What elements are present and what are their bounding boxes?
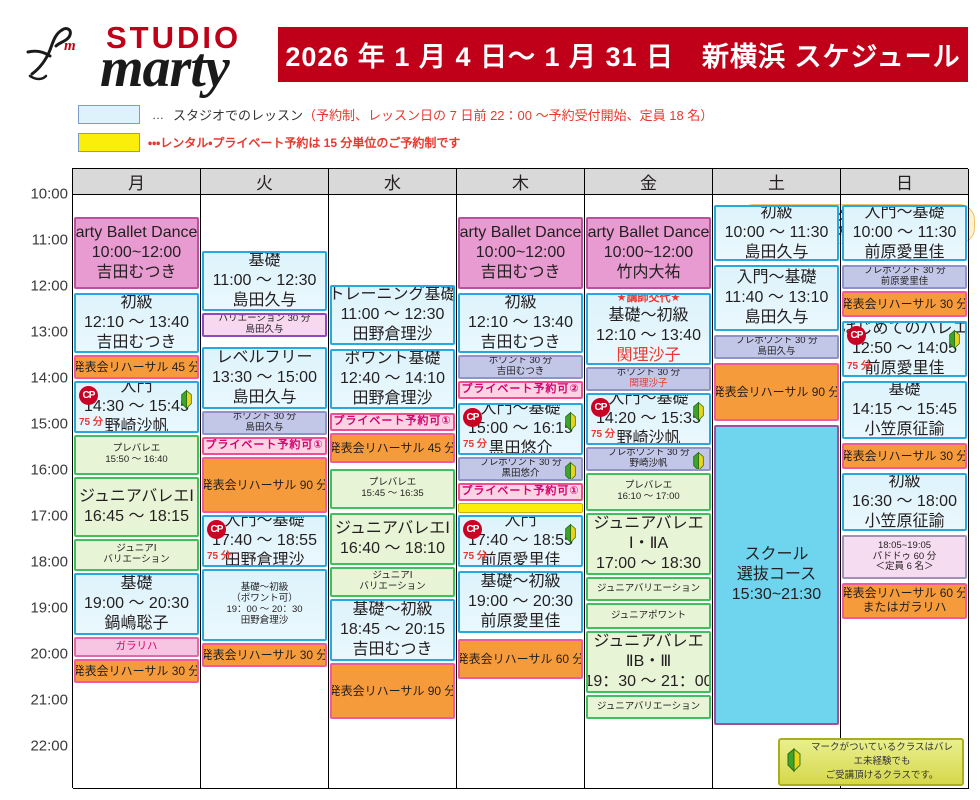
- legend-swatch-rental: [78, 133, 140, 152]
- event-line: プライベート予約可①: [205, 439, 323, 453]
- cp-badge-icon: CP: [207, 520, 226, 539]
- legend-row-studio: … スタジオでのレッスン（予約制、レッスン日の 7 日前 22：00 〜予約受付…: [78, 105, 713, 124]
- class-event[interactable]: ポワント 30 分吉田むつき: [458, 355, 583, 379]
- class-event[interactable]: 発表会リハーサル 60 分またはガラリハ: [842, 583, 967, 619]
- legend-swatch-studio: [78, 105, 140, 124]
- event-line: 15:30~21:30: [732, 585, 821, 605]
- event-line: 黒田悠介: [501, 469, 539, 480]
- leaf-icon: [948, 329, 961, 350]
- event-line: Marty Ballet Dancers: [74, 223, 199, 243]
- day-column-木: 木Marty Ballet Dancers10:00~12:00吉田むつき初級1…: [457, 169, 585, 789]
- day-body-金: Marty Ballet Dancers10:00~12:00竹内大祐★講師交代…: [585, 195, 712, 789]
- time-label-1300: 13:00: [30, 324, 68, 341]
- day-body-月: Marty Ballet Dancers10:00~12:00吉田むつき初級12…: [73, 195, 200, 789]
- time-label-1100: 11:00: [32, 232, 68, 249]
- event-line: 10:00~12:00: [476, 243, 565, 263]
- event-line: 吉田むつき: [352, 640, 432, 660]
- event-line: 13:30 〜 15:00: [212, 368, 317, 388]
- event-line: 入門〜基礎: [224, 515, 304, 531]
- event-line: 前原愛里佳: [864, 243, 944, 261]
- logo-marty-text: marty: [100, 36, 229, 100]
- legend-area: … スタジオでのレッスン（予約制、レッスン日の 7 日前 22：00 〜予約受付…: [0, 100, 980, 162]
- class-event[interactable]: 基礎19:00 〜 20:30鍋嶋聡子: [74, 573, 199, 635]
- event-line: 入門: [120, 381, 152, 397]
- leaf-icon: [564, 523, 577, 544]
- page-title: 2026 年 1 月 4 日〜 1 月 31 日 新横浜 スケジュール: [285, 35, 960, 74]
- leaf-icon: [564, 411, 577, 432]
- class-event[interactable]: ポワント基礎12:40 〜 14:10田野倉理沙: [330, 349, 455, 409]
- cp-badge-icon: CP: [79, 386, 98, 405]
- event-line: 島田久与: [245, 423, 283, 434]
- class-event[interactable]: 発表会リハーサル 45 分: [74, 355, 199, 379]
- class-event[interactable]: 基礎〜初級18:45 〜 20:15吉田むつき: [330, 599, 455, 661]
- class-event[interactable]: 入門〜基礎11:40 〜 13:10島田久与: [714, 265, 839, 331]
- class-event[interactable]: プライベート予約可①: [458, 483, 583, 501]
- class-event[interactable]: スクール選抜コース15:30~21:30: [714, 425, 839, 725]
- event-line: 11:40 〜 13:10: [725, 288, 829, 308]
- legend-text-studio: スタジオでのレッスン（予約制、レッスン日の 7 日前 22：00 〜予約受付開始…: [173, 105, 713, 124]
- day-header-金: 金: [585, 169, 712, 195]
- time-label-1400: 14:00: [30, 370, 68, 387]
- event-line: 吉田むつき: [480, 263, 560, 283]
- class-event[interactable]: トレーニング基礎11:00 〜 12:30田野倉理沙: [330, 285, 455, 345]
- event-line: 15:45 〜 16:35: [361, 489, 423, 500]
- event-line: 黒田悠介: [488, 439, 552, 455]
- event-line: ⅡB・Ⅲ: [626, 652, 672, 672]
- legend-studio-plain: スタジオでのレッスン: [173, 108, 303, 123]
- event-line: 前原愛里佳: [480, 612, 560, 632]
- duration-badge: 75 分: [463, 435, 487, 450]
- day-body-日: 入門〜基礎10:00 〜 11:30前原愛里佳プレポワント 30 分前原愛里佳発…: [841, 195, 968, 789]
- event-line: 発表会リハーサル 30 分: [842, 297, 967, 312]
- event-line: 12:10 〜 13:40: [468, 313, 573, 333]
- event-line: 16:30 〜 18:00: [852, 492, 957, 512]
- event-line: 基礎〜初級: [480, 572, 560, 592]
- class-event[interactable]: Marty Ballet Dancers10:00~12:00竹内大祐: [586, 217, 711, 289]
- event-line: 10:00~12:00: [92, 243, 181, 263]
- class-event[interactable]: ジュニアバレエⅠ・ⅡA17:00 〜 18:30: [586, 513, 711, 575]
- event-line: 発表会リハーサル 30 分: [74, 664, 199, 679]
- class-event[interactable]: プレバレエ15:45 〜 16:35: [330, 469, 455, 509]
- class-event[interactable]: 初級12:10 〜 13:40吉田むつき: [458, 293, 583, 353]
- class-event[interactable]: ポワント 30 分関理沙子: [586, 367, 711, 391]
- event-line: 関理沙子: [616, 346, 680, 365]
- time-label-1900: 19:00: [30, 600, 68, 617]
- day-body-火: 基礎11:00 〜 12:30島田久与バリエーション 30 分島田久与レベルフリ…: [201, 195, 328, 789]
- duration-badge: 75 分: [79, 413, 103, 428]
- event-line: ジュニアバリエーション: [597, 584, 700, 595]
- class-event[interactable]: 基礎〜初級（ポワント可）19：00 〜 20：30田野倉理沙: [202, 569, 327, 641]
- event-line: プライベート予約可①: [461, 485, 579, 499]
- time-label-2100: 21:00: [30, 692, 68, 709]
- schedule-title-bar: 2026 年 1 月 4 日〜 1 月 31 日 新横浜 スケジュール: [278, 27, 968, 82]
- class-event[interactable]: ジュニアバリエーション: [586, 577, 711, 601]
- event-line: 11:00 〜 12:30: [341, 305, 445, 325]
- class-event[interactable]: ジュニアバリエーション: [586, 695, 711, 719]
- event-line: 16:45 〜 18:15: [84, 507, 189, 527]
- class-event[interactable]: 発表会リハーサル 90 分: [330, 663, 455, 719]
- class-event[interactable]: プレポワント 30 分前原愛里佳: [842, 265, 967, 289]
- class-event[interactable]: CP75 分入門〜基礎14:20 〜 15:35野崎沙帆: [586, 393, 711, 445]
- svg-text:m: m: [64, 38, 76, 54]
- class-event[interactable]: CP75 分入門14:30 〜 15:45野崎沙帆: [74, 381, 199, 433]
- event-line: ＜定員 6 名＞: [875, 562, 933, 573]
- class-event[interactable]: Marty Ballet Dancers10:00~12:00吉田むつき: [74, 217, 199, 289]
- event-line: 発表会リハーサル 30 分: [842, 449, 967, 464]
- leaf-icon: [786, 747, 802, 778]
- beginner-note-text: マークがついているクラスはバレエ未経験でも ご受講頂けるクラスです。: [808, 741, 956, 784]
- class-event[interactable]: ジュニアバレエⅠ16:40 〜 18:10: [330, 513, 455, 565]
- class-event[interactable]: プレバレエ16:10 〜 17:00: [586, 473, 711, 511]
- day-header-日: 日: [841, 169, 968, 195]
- event-line: ジュニアバリエーション: [597, 702, 700, 713]
- class-event[interactable]: 発表会リハーサル 30 分: [842, 443, 967, 469]
- event-line: 入門〜基礎: [864, 205, 944, 223]
- event-line: 入門〜基礎: [608, 393, 688, 409]
- event-line: 前原愛里佳: [881, 277, 929, 288]
- day-header-土: 土: [713, 169, 840, 195]
- page-header: m STUDIO marty 2026 年 1 月 4 日〜 1 月 31 日 …: [0, 0, 980, 98]
- day-column-水: 水トレーニング基礎11:00 〜 12:30田野倉理沙ポワント基礎12:40 〜…: [329, 169, 457, 789]
- event-line: 12:40 〜 14:10: [340, 369, 445, 389]
- leaf-icon: [692, 451, 705, 471]
- event-line: Marty Ballet Dancers: [586, 223, 711, 243]
- event-line: ジュニアバレエⅠ: [79, 487, 194, 507]
- event-line: 前原愛里佳: [480, 551, 560, 567]
- class-event[interactable]: 発表会リハーサル 30 分: [202, 643, 327, 667]
- class-event[interactable]: 18:05~19:05パドドゥ 60 分＜定員 6 名＞: [842, 535, 967, 579]
- time-label-1700: 17:00: [30, 508, 68, 525]
- cp-badge-icon: CP: [847, 326, 866, 345]
- day-header-火: 火: [201, 169, 328, 195]
- class-event[interactable]: 初級10:00 〜 11:30島田久与: [714, 205, 839, 261]
- marty-dancer-mark-icon: m: [22, 22, 88, 84]
- event-line: 発表会リハーサル 90 分: [714, 385, 839, 400]
- event-line: 田野倉理沙: [224, 551, 304, 567]
- event-line: 初級: [120, 293, 152, 313]
- class-event[interactable]: プレポワント 30 分島田久与: [714, 335, 839, 359]
- event-line: 初級: [504, 293, 536, 313]
- time-label-1500: 15:00: [30, 416, 68, 433]
- day-body-土: 初級10:00 〜 11:30島田久与入門〜基礎11:40 〜 13:10島田久…: [713, 195, 840, 789]
- event-line: ジュニアバレエⅠ: [335, 519, 450, 539]
- class-event[interactable]: プライベート予約可①: [330, 413, 455, 431]
- leaf-icon: [180, 389, 193, 410]
- schedule-grid: 10:0011:0012:0013:0014:0015:0016:0017:00…: [12, 168, 968, 788]
- class-event[interactable]: プレポワント 30 分黒田悠介: [458, 457, 583, 481]
- duration-badge: 75 分: [591, 425, 615, 440]
- event-line: 19：30 〜 21：00: [586, 672, 711, 692]
- event-line: 発表会リハーサル 45 分: [74, 360, 199, 375]
- event-line: 基礎: [248, 251, 280, 271]
- day-body-水: トレーニング基礎11:00 〜 12:30田野倉理沙ポワント基礎12:40 〜 …: [329, 195, 456, 789]
- studio-marty-logo: m STUDIO marty: [22, 14, 272, 90]
- event-line: 選抜コース: [737, 565, 816, 585]
- day-column-日: 日入門〜基礎10:00 〜 11:30前原愛里佳プレポワント 30 分前原愛里佳…: [841, 169, 969, 789]
- event-line: 18:45 〜 20:15: [340, 620, 445, 640]
- event-line: 発表会リハーサル 90 分: [330, 684, 455, 699]
- event-line: 島田久与: [744, 243, 808, 261]
- event-line: 島田久与: [232, 388, 296, 408]
- event-line: 10:00 〜 11:30: [725, 223, 829, 243]
- leaf-icon: [564, 461, 577, 481]
- event-line: プライベート予約可①: [333, 415, 451, 429]
- event-line: 19:00 〜 20:30: [468, 592, 573, 612]
- class-event[interactable]: 入門〜基礎10:00 〜 11:30前原愛里佳: [842, 205, 967, 261]
- event-line: 入門〜基礎: [480, 403, 560, 419]
- class-event[interactable]: プライベート予約可①: [202, 437, 327, 455]
- event-line: 19:00 〜 20:30: [84, 594, 189, 614]
- legend-row-rental: ・・・レンタル・プライベート予約は 15 分単位のご予約制です: [78, 133, 460, 152]
- cp-badge-icon: CP: [591, 398, 610, 417]
- class-event[interactable]: CP75 分はじめてのバレエ12:50 〜 14:05前原愛里佳: [842, 321, 967, 377]
- duration-badge: 75 分: [847, 357, 871, 372]
- event-line: 吉田むつき: [497, 367, 545, 378]
- class-event[interactable]: プレポワント 30 分野崎沙帆: [586, 447, 711, 471]
- time-axis: 10:0011:0012:0013:0014:0015:0016:0017:00…: [12, 168, 72, 788]
- event-line: 島田久与: [744, 308, 808, 328]
- event-line: 野崎沙帆: [104, 417, 168, 433]
- event-line: 吉田むつき: [96, 333, 176, 353]
- class-event[interactable]: 発表会リハーサル 90 分: [714, 363, 839, 421]
- time-label-1000: 10:00: [30, 186, 68, 203]
- event-line: 18:05~19:05: [878, 541, 931, 552]
- class-event[interactable]: ★講師交代★基礎〜初級12:10 〜 13:40関理沙子: [586, 293, 711, 365]
- event-line: 16:40 〜 18:10: [340, 539, 445, 559]
- event-line: Marty Ballet Dancers: [458, 223, 583, 243]
- class-event[interactable]: ジュニアバレエⅡB・Ⅲ19：30 〜 21：00: [586, 631, 711, 693]
- event-line: 関理沙子: [629, 379, 667, 390]
- day-header-月: 月: [73, 169, 200, 195]
- class-event[interactable]: CP75 分入門〜基礎17:40 〜 18:55田野倉理沙: [202, 515, 327, 567]
- event-line: 10:00 〜 11:30: [853, 223, 957, 243]
- class-event[interactable]: CP75 分入門〜基礎15:00 〜 16:15黒田悠介: [458, 403, 583, 455]
- event-line: Ⅰ・ⅡA: [629, 534, 668, 554]
- class-event[interactable]: ポワント 30 分島田久与: [202, 411, 327, 435]
- legend-dots-studio: …: [152, 108, 165, 122]
- class-event[interactable]: ガラリハ: [74, 637, 199, 657]
- class-event[interactable]: バリエーション 30 分島田久与: [202, 313, 327, 337]
- class-event[interactable]: Marty Ballet Dancers10:00~12:00吉田むつき: [458, 217, 583, 289]
- event-line: 小笠原征諭: [864, 512, 944, 531]
- event-line: ポワント基礎: [344, 349, 440, 369]
- class-event[interactable]: 初級16:30 〜 18:00小笠原征諭: [842, 473, 967, 531]
- event-line: 12:10 〜 13:40: [596, 326, 701, 346]
- event-line: 田野倉理沙: [352, 325, 432, 345]
- event-line: ジュニアポワント: [611, 611, 686, 622]
- class-event[interactable]: 発表会リハーサル 30 分: [842, 291, 967, 317]
- event-line: 吉田むつき: [96, 263, 176, 283]
- event-line: 野崎沙帆: [629, 459, 667, 470]
- duration-badge: 75 分: [463, 547, 487, 562]
- beginner-note-line2: ご受講頂けるクラスです。: [826, 770, 939, 781]
- event-line: 12:10 〜 13:40: [84, 313, 189, 333]
- event-line: 発表会リハーサル 30 分: [202, 648, 327, 663]
- event-line: バリエーション: [359, 582, 425, 593]
- cp-badge-icon: CP: [463, 520, 482, 539]
- event-line: 発表会リハーサル 60 分: [458, 652, 583, 667]
- event-line: またはガラリハ: [862, 601, 946, 615]
- time-label-1600: 16:00: [30, 462, 68, 479]
- time-label-2200: 22:00: [30, 738, 68, 755]
- class-event[interactable]: CP75 分入門17:40 〜 18:55前原愛里佳: [458, 515, 583, 567]
- class-event[interactable]: レベルフリー13:30 〜 15:00島田久与: [202, 347, 327, 409]
- class-event[interactable]: プレバレエ15:50 〜 16:40: [74, 435, 199, 475]
- event-line: トレーニング基礎: [330, 285, 455, 305]
- event-line: ガラリハ: [116, 640, 158, 653]
- event-line: 田野倉理沙: [241, 616, 289, 627]
- event-line: 竹内大祐: [616, 263, 680, 283]
- class-event[interactable]: ジュニアⅠバリエーション: [330, 567, 455, 597]
- event-line: 初級: [760, 205, 792, 223]
- event-line: 10:00~12:00: [604, 243, 693, 263]
- legend-studio-red: （予約制、レッスン日の 7 日前 22：00 〜予約受付開始、定員 18 名）: [303, 108, 713, 123]
- event-line: 発表会リハーサル 60 分: [842, 587, 967, 601]
- event-line: レベルフリー: [216, 348, 312, 368]
- beginner-note-line1: マークがついているクラスはバレエ未経験でも: [811, 742, 953, 767]
- class-event[interactable]: 基礎〜初級19:00 〜 20:30前原愛里佳: [458, 571, 583, 633]
- event-line: 田野倉理沙: [352, 389, 432, 409]
- time-label-2000: 20:00: [30, 646, 68, 663]
- cp-badge-icon: CP: [463, 408, 482, 427]
- class-event[interactable]: 発表会リハーサル 30 分: [74, 659, 199, 683]
- event-line: プライベート予約可②: [461, 383, 579, 397]
- day-column-月: 月Marty Ballet Dancers10:00~12:00吉田むつき初級1…: [73, 169, 201, 789]
- event-line: 基礎〜初級: [608, 306, 688, 326]
- class-event[interactable]: [458, 503, 583, 513]
- event-line: 14:15 〜 15:45: [852, 400, 957, 420]
- day-header-水: 水: [329, 169, 456, 195]
- event-line: 16:10 〜 17:00: [617, 492, 679, 503]
- instructor-change-notice: ★講師交代★: [617, 293, 681, 306]
- event-line: ジュニアバレエ: [593, 632, 703, 652]
- class-event[interactable]: 発表会リハーサル 45 分: [330, 433, 455, 463]
- event-line: 12:50 〜 14:05: [852, 339, 957, 359]
- day-column-金: 金Marty Ballet Dancers10:00~12:00竹内大祐★講師交…: [585, 169, 713, 789]
- event-line: バリエーション: [103, 555, 169, 566]
- class-event[interactable]: 発表会リハーサル 60 分: [458, 639, 583, 679]
- event-line: 入門: [504, 515, 536, 531]
- event-line: 11:00 〜 12:30: [213, 271, 317, 291]
- event-line: 初級: [888, 473, 920, 492]
- event-line: 島田久与: [757, 347, 795, 358]
- event-line: 島田久与: [232, 291, 296, 311]
- event-line: 15:50 〜 16:40: [105, 455, 167, 466]
- event-line: 島田久与: [245, 325, 283, 336]
- day-body-木: Marty Ballet Dancers10:00~12:00吉田むつき初級12…: [457, 195, 584, 789]
- day-column-火: 火基礎11:00 〜 12:30島田久与バリエーション 30 分島田久与レベルフ…: [201, 169, 329, 789]
- event-line: 入門〜基礎: [736, 268, 816, 288]
- event-line: 発表会リハーサル 45 分: [330, 441, 455, 456]
- time-label-1800: 18:00: [30, 554, 68, 571]
- class-event[interactable]: 基礎11:00 〜 12:30島田久与: [202, 251, 327, 311]
- class-event[interactable]: ジュニアⅠバリエーション: [74, 539, 199, 571]
- legend-text-rental: ・・・レンタル・プライベート予約は 15 分単位のご予約制です: [148, 134, 460, 151]
- class-event[interactable]: ジュニアバレエⅠ16:45 〜 18:15: [74, 477, 199, 537]
- event-line: 17:00 〜 18:30: [596, 554, 701, 574]
- event-line: 発表会リハーサル 90 分: [202, 478, 327, 493]
- event-line: ジュニアバレエ: [593, 514, 703, 534]
- class-event[interactable]: ジュニアポワント: [586, 603, 711, 629]
- event-line: 吉田むつき: [480, 333, 560, 353]
- event-line: 基礎〜初級: [352, 600, 432, 620]
- leaf-icon: [692, 401, 705, 422]
- event-line: 小笠原征諭: [864, 420, 944, 439]
- event-line: スクール: [744, 545, 808, 565]
- day-header-木: 木: [457, 169, 584, 195]
- event-line: 野崎沙帆: [616, 429, 680, 445]
- event-line: 基礎: [120, 574, 152, 594]
- class-event[interactable]: 初級12:10 〜 13:40吉田むつき: [74, 293, 199, 353]
- day-columns: 月Marty Ballet Dancers10:00~12:00吉田むつき初級1…: [72, 168, 968, 788]
- beginner-note: マークがついているクラスはバレエ未経験でも ご受講頂けるクラスです。: [778, 738, 964, 786]
- event-line: 前原愛里佳: [864, 359, 944, 377]
- class-event[interactable]: プライベート予約可②: [458, 381, 583, 399]
- day-column-土: 土初級10:00 〜 11:30島田久与入門〜基礎11:40 〜 13:10島田…: [713, 169, 841, 789]
- event-line: 鍋嶋聡子: [104, 614, 168, 634]
- class-event[interactable]: 発表会リハーサル 90 分: [202, 457, 327, 513]
- time-label-1200: 12:00: [30, 278, 68, 295]
- event-line: 基礎: [888, 381, 920, 400]
- class-event[interactable]: 基礎14:15 〜 15:45小笠原征諭: [842, 381, 967, 439]
- duration-badge: 75 分: [207, 547, 231, 562]
